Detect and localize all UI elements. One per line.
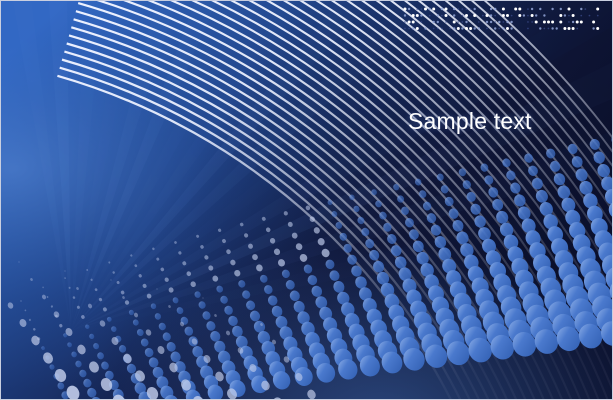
dot-matrix	[1, 1, 613, 400]
sample-text-label: Sample text	[408, 107, 532, 135]
abstract-background-image: Sample text	[0, 0, 613, 400]
